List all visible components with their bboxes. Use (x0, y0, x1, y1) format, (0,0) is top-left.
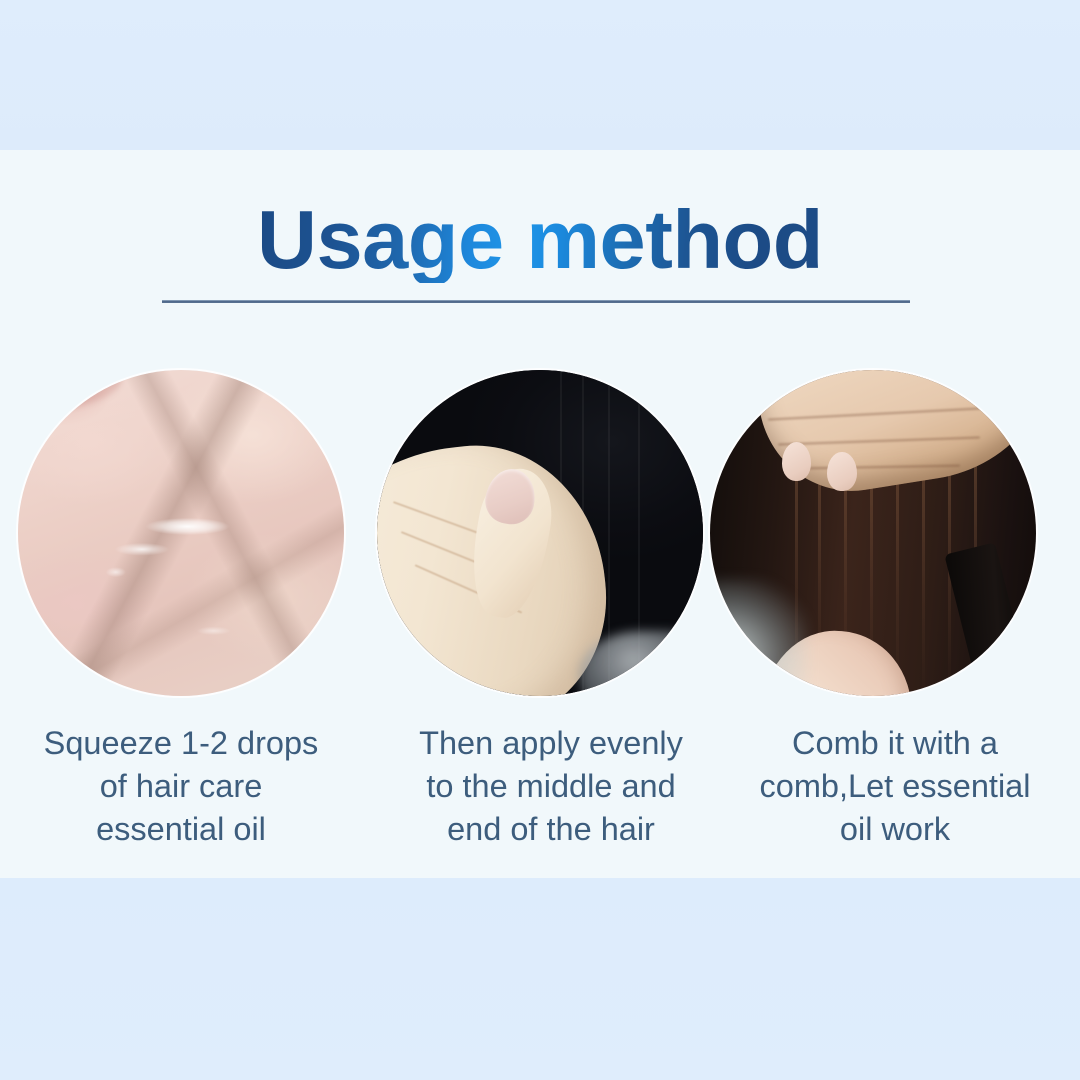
page-title: Usage method (257, 196, 823, 283)
caption-line: Then apply evenly (378, 722, 724, 765)
step-1-circle-frame (18, 370, 344, 696)
caption-line: of hair care (8, 765, 354, 808)
page-title-wrap: Usage method (0, 196, 1080, 283)
caption-line: comb,Let essential (722, 765, 1068, 808)
step-2-circle-frame (377, 370, 703, 696)
caption-line: Comb it with a (722, 722, 1068, 765)
step-2-image-cell (377, 370, 703, 696)
title-divider (162, 300, 910, 303)
caption-line: oil work (722, 808, 1068, 851)
caption-line: essential oil (8, 808, 354, 851)
step-3-circle-frame (710, 370, 1036, 696)
usage-method-poster: Usage method (0, 0, 1080, 1080)
captions-row: Squeeze 1-2 drops of hair care essential… (0, 722, 1080, 862)
hand-applying-to-hair-photo (377, 370, 703, 696)
combing-hair-photo (710, 370, 1036, 696)
bottom-color-band (0, 878, 1080, 1080)
step-1-image-cell (18, 370, 344, 696)
step-2-caption: Then apply evenly to the middle and end … (378, 722, 724, 851)
background-highlight (710, 579, 808, 690)
step-3-image-cell (710, 370, 1036, 696)
comb-shape (945, 542, 1036, 696)
palm-with-oil-drops-photo (18, 370, 344, 696)
thumbnail-edge-shape (18, 370, 122, 409)
steps-row (0, 370, 1080, 700)
caption-line: end of the hair (378, 808, 724, 851)
step-3-caption: Comb it with a comb,Let essential oil wo… (722, 722, 1068, 851)
caption-line: Squeeze 1-2 drops (8, 722, 354, 765)
top-color-band (0, 0, 1080, 150)
caption-line: to the middle and (378, 765, 724, 808)
step-1-caption: Squeeze 1-2 drops of hair care essential… (8, 722, 354, 851)
